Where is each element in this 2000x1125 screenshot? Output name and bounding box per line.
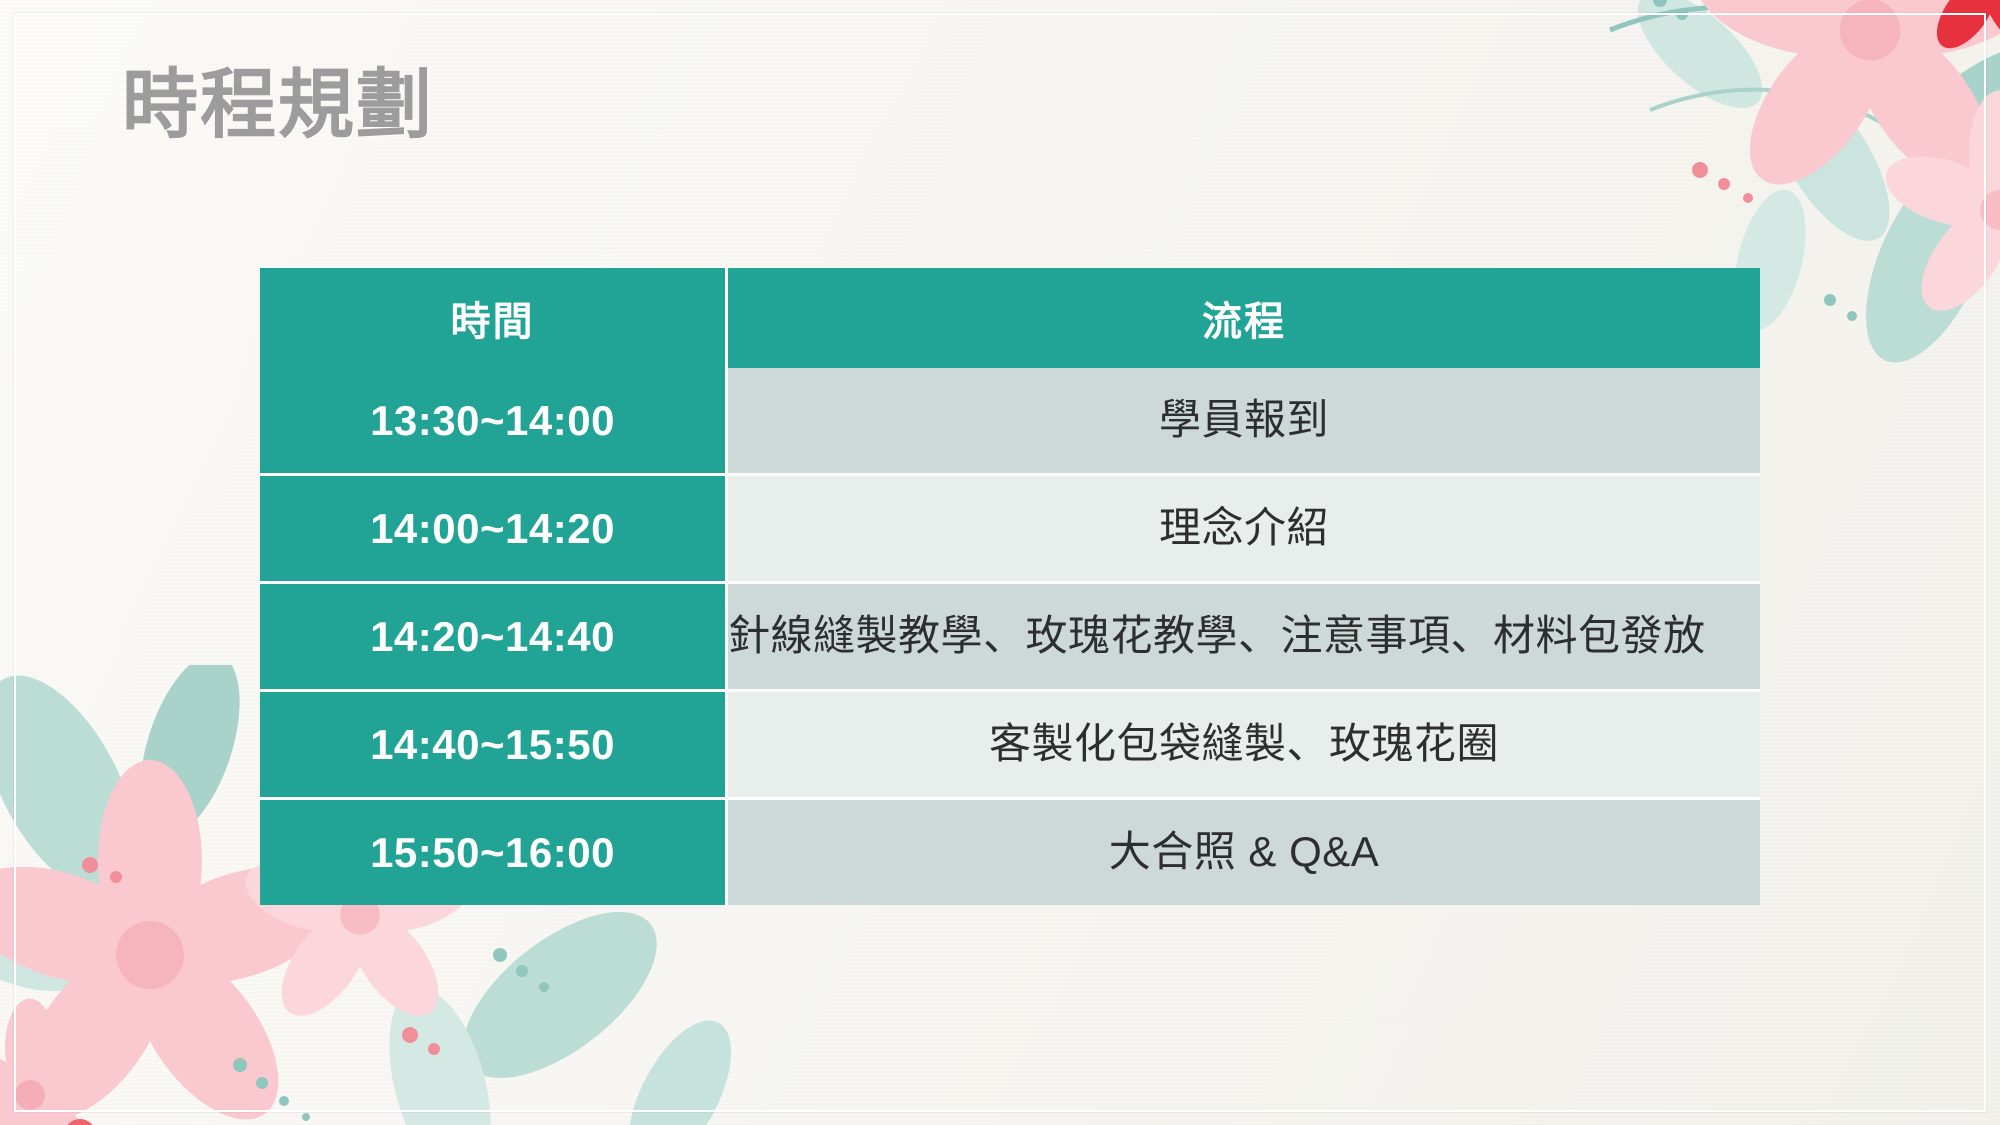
table-row: 14:00~14:20 理念介紹: [260, 476, 1760, 584]
cell-time: 14:20~14:40: [260, 584, 728, 692]
table-row: 13:30~14:00 學員報到: [260, 368, 1760, 476]
cell-flow: 大合照 & Q&A: [728, 800, 1760, 905]
cell-time: 14:00~14:20: [260, 476, 728, 584]
column-header-flow: 流程: [728, 268, 1760, 368]
slide-canvas: 時程規劃 時間 流程 13:30~14:00 學員報到 14:00~14:20 …: [0, 0, 2000, 1125]
table-header-row: 時間 流程: [260, 268, 1760, 368]
cell-flow: 理念介紹: [728, 476, 1760, 584]
cell-flow: 針線縫製教學、玫瑰花教學、注意事項、材料包發放: [728, 584, 1760, 692]
table-row: 15:50~16:00 大合照 & Q&A: [260, 800, 1760, 905]
table-row: 14:20~14:40 針線縫製教學、玫瑰花教學、注意事項、材料包發放: [260, 584, 1760, 692]
cell-time: 13:30~14:00: [260, 368, 728, 476]
cell-flow: 客製化包袋縫製、玫瑰花圈: [728, 692, 1760, 800]
page-title: 時程規劃: [122, 62, 434, 149]
cell-time: 14:40~15:50: [260, 692, 728, 800]
cell-time: 15:50~16:00: [260, 800, 728, 905]
column-header-time: 時間: [260, 268, 728, 368]
table-row: 14:40~15:50 客製化包袋縫製、玫瑰花圈: [260, 692, 1760, 800]
schedule-table: 時間 流程 13:30~14:00 學員報到 14:00~14:20 理念介紹 …: [260, 268, 1760, 905]
cell-flow: 學員報到: [728, 368, 1760, 476]
